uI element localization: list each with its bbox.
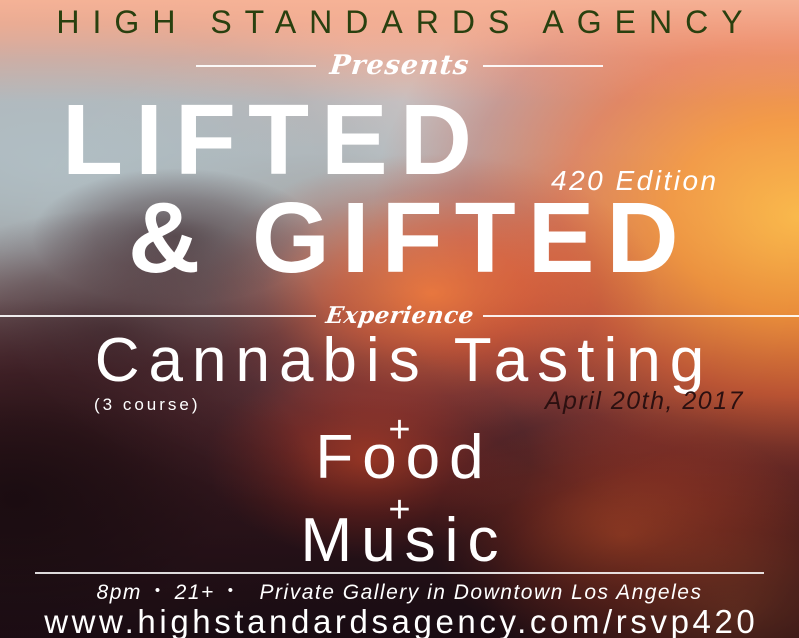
experience-rule-left bbox=[0, 315, 316, 317]
agency-name: HIGH STANDARDS AGENCY bbox=[0, 6, 799, 38]
rsvp-url[interactable]: www.highstandardsagency.com/rsvp420 bbox=[0, 605, 799, 638]
presents-rule-right bbox=[483, 65, 603, 67]
footer-separator-2: • bbox=[215, 583, 248, 598]
presents-label: Presents bbox=[328, 52, 470, 79]
event-age-limit: 21+ bbox=[175, 582, 215, 603]
footer-separator-1: • bbox=[142, 583, 175, 598]
poster-content: HIGH STANDARDS AGENCY Presents LIFTED & … bbox=[0, 0, 799, 638]
experience-label: Experience bbox=[324, 304, 475, 327]
event-poster: HIGH STANDARDS AGENCY Presents LIFTED & … bbox=[0, 0, 799, 638]
headline-line-2: & GIFTED bbox=[128, 192, 799, 284]
menu-item-tasting: Cannabis Tasting bbox=[0, 330, 799, 392]
presents-row: Presents bbox=[0, 52, 799, 79]
experience-rule-right bbox=[483, 315, 799, 317]
footer-divider bbox=[35, 572, 764, 574]
footer-details: 8pm • 21+ • Private Gallery in Downtown … bbox=[0, 582, 799, 603]
presents-rule-left bbox=[196, 65, 316, 67]
edition-label: 420 Edition bbox=[551, 167, 719, 195]
menu-item-food: Food bbox=[0, 427, 799, 489]
experience-row: Experience bbox=[0, 304, 799, 327]
event-venue: Private Gallery in Downtown Los Angeles bbox=[248, 582, 703, 603]
event-time: 8pm bbox=[97, 582, 142, 603]
menu-item-music: Music bbox=[0, 510, 799, 572]
